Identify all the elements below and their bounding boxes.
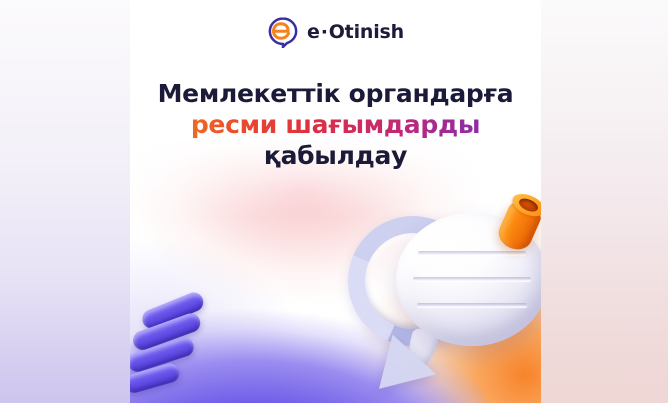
promo-card: e·Otinish Мемлекеттік органдарға ресми ш… bbox=[130, 0, 541, 403]
page-title: Мемлекеттік органдарға ресми шағымдарды … bbox=[130, 78, 541, 171]
wordmark-separator-dot: · bbox=[320, 21, 329, 43]
brand-wordmark: e·Otinish bbox=[307, 23, 404, 42]
speech-bubble-text-line bbox=[418, 251, 526, 255]
headline-line-1: Мемлекеттік органдарға bbox=[130, 78, 541, 109]
brand-header: e·Otinish bbox=[130, 16, 541, 48]
right-margin-backdrop bbox=[541, 0, 668, 403]
left-margin-backdrop bbox=[0, 0, 132, 403]
headline-line-2: ресми шағымдарды bbox=[130, 109, 541, 140]
wordmark-main: Otinish bbox=[329, 21, 404, 43]
wordmark-prefix: e bbox=[307, 21, 320, 43]
e-otinish-logo-icon bbox=[267, 16, 299, 48]
headline-line-3: қабылдау bbox=[130, 140, 541, 171]
speech-bubble-text-line bbox=[417, 303, 527, 307]
speech-bubble-text-line bbox=[413, 277, 531, 281]
spiral-coil-3d bbox=[130, 294, 220, 402]
promo-banner-page: e·Otinish Мемлекеттік органдарға ресми ш… bbox=[0, 0, 668, 403]
